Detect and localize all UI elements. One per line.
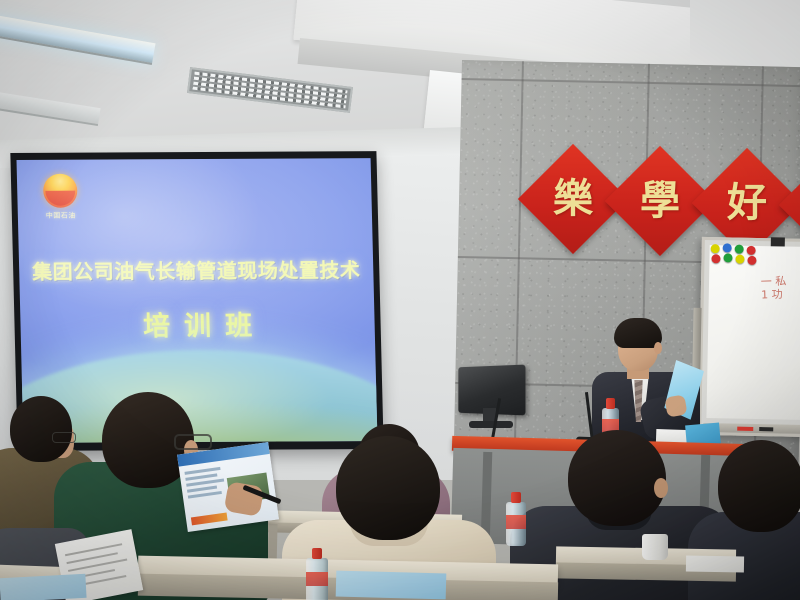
air-vent-icon [187,67,353,113]
ceiling-light-icon [0,13,156,65]
notepad [686,555,744,572]
attendee-hair [718,440,800,532]
paper-cup [642,534,668,560]
blue-handout [0,574,87,600]
photo-scene: 中国石油 集团公司油气长输管道现场处置技术 培训班 樂 學 好 學 一 私 1 … [0,0,800,600]
black-marker-icon[interactable] [759,427,773,431]
magnet-icon[interactable] [735,255,744,264]
water-bottle [506,492,526,546]
sun-emblem-icon [43,174,78,208]
magnet-icon[interactable] [747,256,756,265]
banner-character: 樂 [553,179,593,219]
lcd-monitor [455,366,525,428]
cnpc-logo: 中国石油 [39,174,82,226]
cnpc-logo-text: 中国石油 [40,211,82,221]
whiteboard[interactable]: 一 私 1 功 [698,237,800,437]
water-bottle [306,548,328,600]
banner-character: 好 [727,183,767,223]
attendee-ear [654,478,668,498]
banner-character: 學 [640,181,680,221]
blue-handout [336,571,447,600]
red-marker-icon[interactable] [737,427,753,431]
attendee-hair [568,430,666,526]
whiteboard-clip-icon[interactable] [771,237,785,246]
whiteboard-surface[interactable]: 一 私 1 功 [706,245,800,420]
glasses-icon [174,434,212,450]
monitor-base [469,421,513,428]
whiteboard-writing: 一 私 1 功 [761,274,800,302]
magnet-icon[interactable] [747,246,756,255]
magnet-icon[interactable] [723,243,732,252]
ceiling-light-recess-icon [0,88,101,126]
slide-title: 集团公司油气长输管道现场处置技术 [19,254,374,285]
attendee-hair [336,436,440,540]
presenter-ear [654,342,662,354]
